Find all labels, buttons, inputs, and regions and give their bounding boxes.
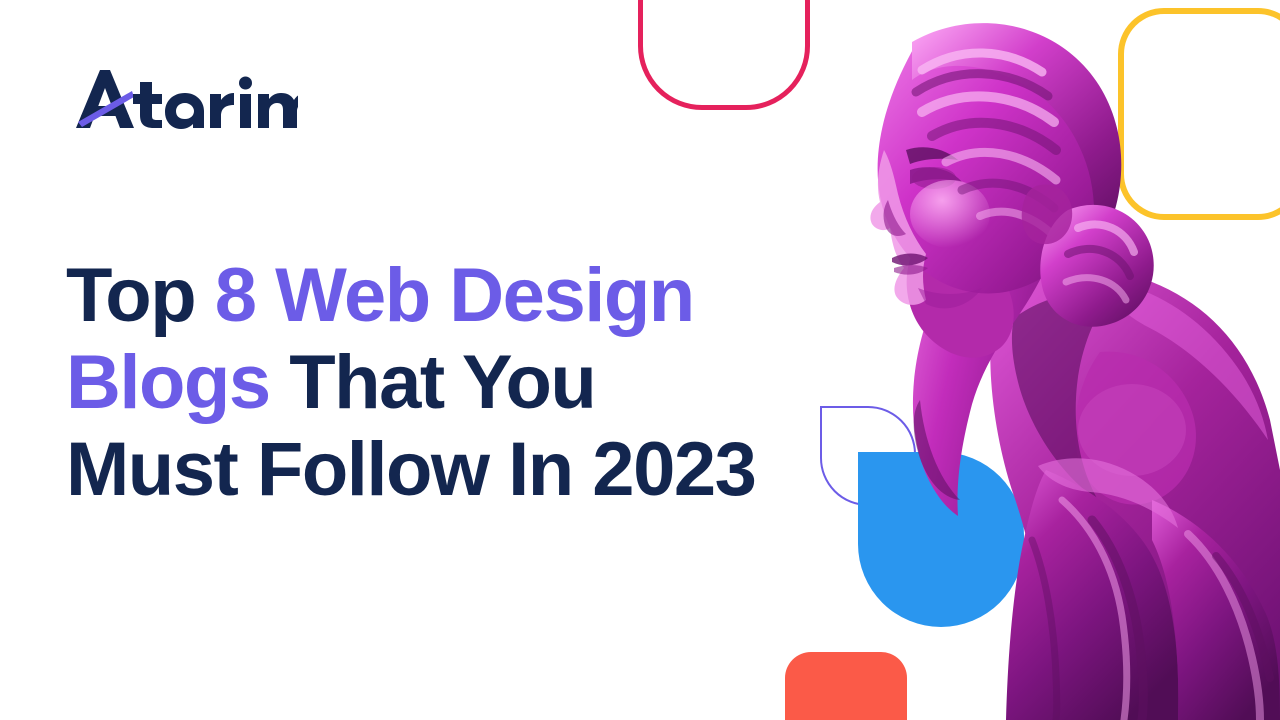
- page-title-segment-2-1: Blogs: [66, 340, 270, 425]
- page-title-line-1: Top 8 Web Design: [66, 252, 826, 339]
- page-title-line-2: Blogs That You: [66, 339, 826, 426]
- page-title: Top 8 Web DesignBlogs That YouMust Follo…: [66, 252, 826, 513]
- page-title-segment-2-2: That You: [270, 340, 596, 425]
- yellow-square-outline-shape: [1118, 8, 1280, 220]
- page-title-segment-1-2: 8 Web Design: [215, 253, 694, 338]
- atarim-a-mark-icon: [76, 70, 134, 128]
- pink-circle-outline-shape: [638, 0, 810, 110]
- blue-circle-solid-shape: [858, 452, 1024, 627]
- page-title-segment-1-1: Top: [66, 253, 215, 338]
- blue-square-outline-shape: [1102, 545, 1280, 720]
- page-title-segment-3-1: Must Follow In 2023: [66, 427, 755, 512]
- atarim-logo[interactable]: [68, 66, 298, 132]
- blog-banner: Top 8 Web DesignBlogs That YouMust Follo…: [0, 0, 1280, 720]
- orange-square-solid-shape: [785, 652, 907, 720]
- page-title-line-3: Must Follow In 2023: [66, 426, 826, 513]
